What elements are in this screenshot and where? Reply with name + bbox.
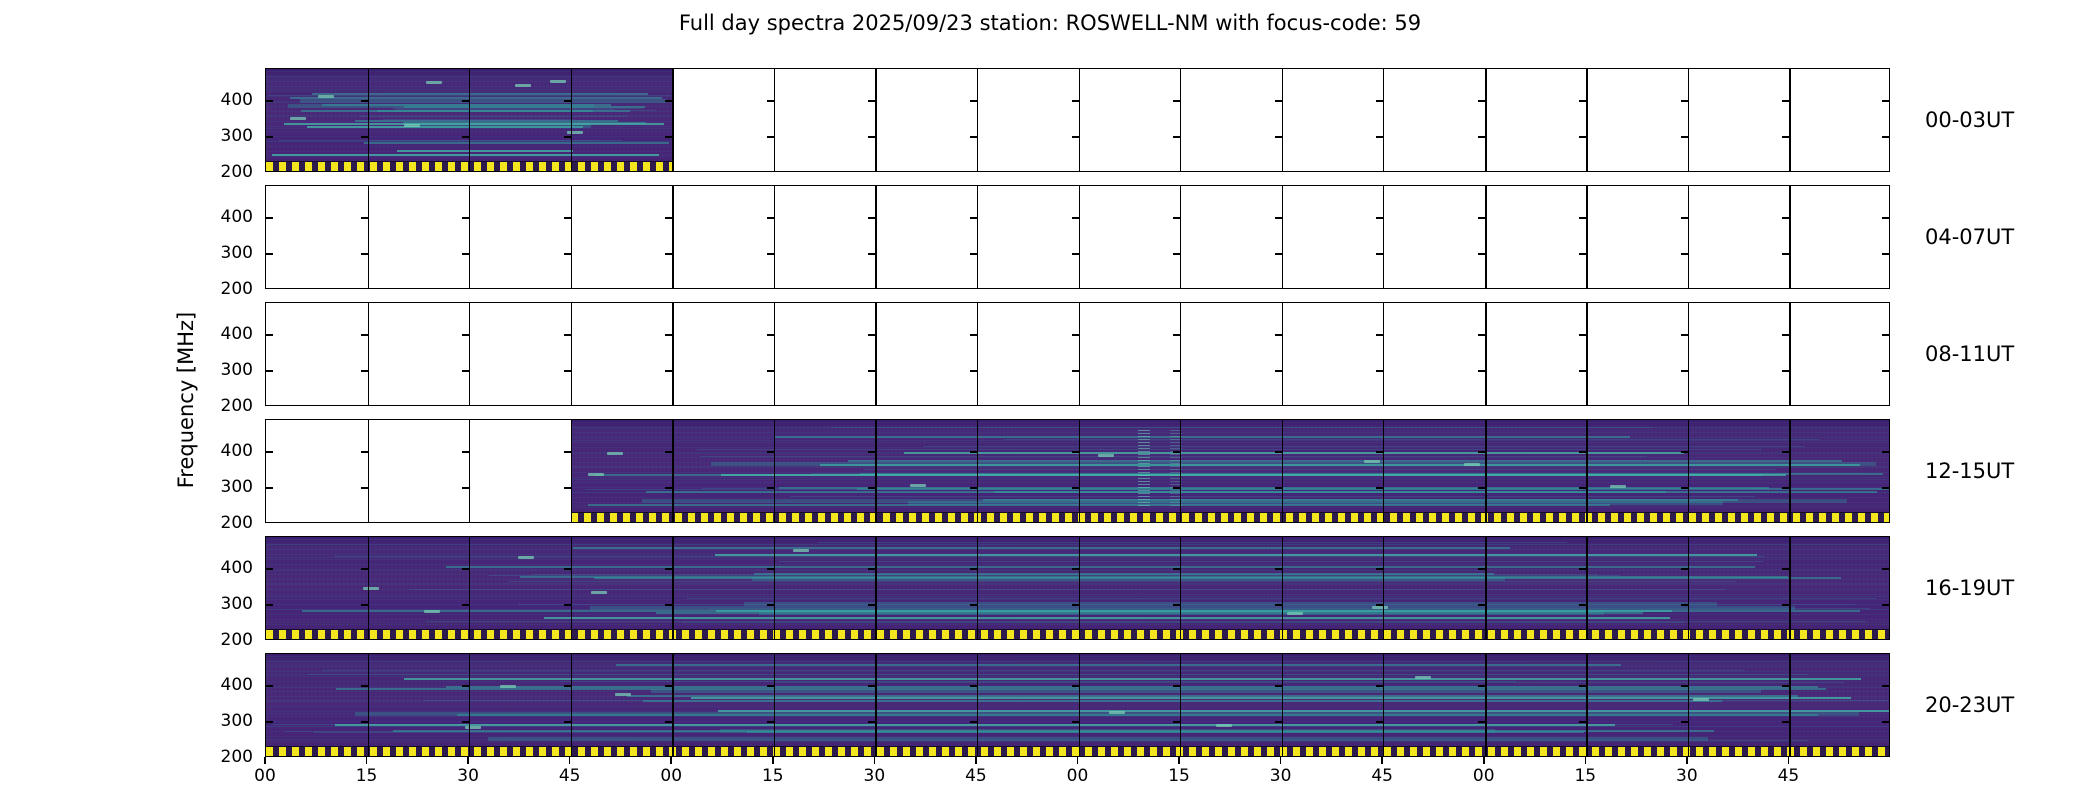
spectrogram-streak (290, 97, 661, 99)
grid-line-vertical (1282, 303, 1283, 405)
spectrogram-streak (355, 712, 1859, 716)
grid-tick-mark (1275, 487, 1282, 489)
grid-line-vertical (1180, 69, 1181, 171)
grid-tick-mark (1478, 334, 1485, 336)
x-tick-mark (975, 757, 977, 764)
spectrogram-streak (272, 154, 660, 156)
grid-tick-mark (665, 451, 672, 453)
y-tick-mark (266, 451, 273, 453)
grid-tick-mark (462, 217, 469, 219)
grid-line-vertical (1383, 303, 1384, 405)
spectrogram-blob (518, 556, 534, 559)
y-tick-label: 400 (207, 675, 253, 695)
grid-line-vertical (875, 537, 876, 639)
y-tick-mark (1882, 253, 1889, 255)
y-tick-mark (1882, 100, 1889, 102)
grid-tick-mark (1072, 217, 1079, 219)
y-tick-mark (266, 568, 273, 570)
x-tick-label: 45 (1778, 766, 1800, 786)
grid-line-vertical (1586, 69, 1587, 171)
spectrogram-streak (790, 496, 1755, 497)
grid-line-vertical (1789, 537, 1790, 639)
x-tick-label: 30 (1270, 766, 1292, 786)
spectrogram-row-16-19ut[interactable] (265, 536, 1890, 640)
y-tick-label: 200 (207, 279, 253, 299)
grid-line-vertical (1282, 654, 1283, 756)
x-tick-mark (772, 757, 774, 764)
grid-line-vertical (1485, 303, 1487, 405)
spectrogram-streak (397, 150, 573, 152)
grid-tick-mark (1376, 370, 1383, 372)
grid-tick-mark (767, 334, 774, 336)
grid-line-vertical (875, 654, 876, 756)
grid-tick-mark (564, 685, 571, 687)
grid-tick-mark (1782, 487, 1789, 489)
grid-tick-mark (1275, 568, 1282, 570)
grid-tick-mark (361, 370, 368, 372)
grid-line-vertical (774, 303, 775, 405)
spectrogram-streak (518, 604, 1855, 605)
grid-tick-mark (1579, 100, 1586, 102)
x-tick-label: 00 (660, 766, 682, 786)
grid-tick-mark (361, 253, 368, 255)
y-tick-label: 300 (207, 711, 253, 731)
grid-tick-mark (564, 136, 571, 138)
spectrogram-streak (396, 107, 630, 108)
grid-tick-mark (1782, 100, 1789, 102)
grid-tick-mark (767, 100, 774, 102)
grid-line-vertical (977, 537, 978, 639)
grid-tick-mark (1072, 685, 1079, 687)
grid-tick-mark (1579, 451, 1586, 453)
grid-line-vertical (1383, 420, 1384, 522)
y-tick-label: 400 (207, 558, 253, 578)
grid-tick-mark (1681, 217, 1688, 219)
grid-line-vertical (1586, 186, 1587, 288)
y-tick-label: 200 (207, 162, 253, 182)
grid-line-vertical (1485, 654, 1487, 756)
grid-line-vertical (368, 186, 369, 288)
grid-tick-mark (767, 451, 774, 453)
spectrogram-streak (335, 724, 1615, 726)
grid-tick-mark (1173, 334, 1180, 336)
grid-tick-mark (767, 685, 774, 687)
spectrogram-row-20-23ut[interactable] (265, 653, 1890, 757)
spectrogram-streak (370, 140, 622, 141)
spectrogram-streak (697, 449, 1762, 450)
y-tick-mark (1882, 685, 1889, 687)
grid-line-vertical (875, 69, 876, 171)
spectrogram-streak (560, 681, 1517, 682)
grid-tick-mark (1681, 685, 1688, 687)
grid-line-vertical (977, 420, 978, 522)
grid-tick-mark (970, 136, 977, 138)
spectrogram-blob (1216, 724, 1232, 727)
grid-tick-mark (665, 721, 672, 723)
grid-tick-mark (1173, 136, 1180, 138)
grid-tick-mark (868, 253, 875, 255)
grid-tick-mark (361, 100, 368, 102)
grid-line-vertical (571, 420, 572, 522)
spectrogram-blob (591, 591, 607, 594)
spectrogram-streak (711, 462, 1876, 466)
grid-tick-mark (462, 568, 469, 570)
spectrogram-row-00-03ut[interactable] (265, 68, 1890, 172)
spectrogram-streak (923, 446, 1804, 447)
y-tick-label: 400 (207, 207, 253, 227)
x-tick-label: 00 (1067, 766, 1089, 786)
y-axis-label: Frequency [MHz] (174, 312, 198, 488)
grid-tick-mark (868, 217, 875, 219)
spectrogram-streak (691, 697, 1850, 699)
grid-line-vertical (469, 420, 470, 522)
y-tick-mark (1882, 136, 1889, 138)
grid-line-vertical (977, 186, 978, 288)
y-tick-label: 200 (207, 747, 253, 767)
spectrogram-streak (509, 581, 1737, 582)
y-tick-mark (1882, 487, 1889, 489)
spectrogram-blob (1364, 460, 1380, 463)
spectrogram-blob (1372, 606, 1388, 609)
spectrogram-blob (1415, 676, 1431, 679)
y-tick-mark (266, 721, 273, 723)
grid-tick-mark (1173, 451, 1180, 453)
x-tick-label: 30 (1676, 766, 1698, 786)
grid-tick-mark (1681, 334, 1688, 336)
spectrogram-streak (322, 670, 1744, 671)
interference-burst (1138, 428, 1150, 508)
grid-tick-mark (665, 568, 672, 570)
grid-tick-mark (1376, 253, 1383, 255)
grid-tick-mark (1782, 334, 1789, 336)
y-tick-label: 400 (207, 324, 253, 344)
grid-tick-mark (462, 487, 469, 489)
grid-line-vertical (469, 303, 470, 405)
grid-tick-mark (1681, 487, 1688, 489)
spectrogram-streak (314, 732, 1562, 733)
grid-line-vertical (1688, 186, 1689, 288)
grid-tick-mark (767, 721, 774, 723)
spectrogram-blob (1287, 612, 1303, 615)
grid-tick-mark (970, 568, 977, 570)
spectrogram-streak (863, 469, 1776, 470)
spectrogram-streak (489, 575, 1620, 576)
spectrogram-blob (615, 693, 631, 696)
grid-tick-mark (1072, 604, 1079, 606)
grid-tick-mark (1376, 685, 1383, 687)
spectrogram-streak (308, 674, 1808, 675)
y-tick-mark (1882, 568, 1889, 570)
grid-tick-mark (970, 253, 977, 255)
spectrogram-row-08-11ut[interactable] (265, 302, 1890, 406)
grid-line-vertical (977, 303, 978, 405)
grid-tick-mark (1376, 604, 1383, 606)
grid-line-vertical (1383, 186, 1384, 288)
grid-tick-mark (1173, 253, 1180, 255)
grid-line-vertical (1180, 420, 1181, 522)
grid-tick-mark (767, 136, 774, 138)
x-tick-label: 45 (559, 766, 581, 786)
grid-tick-mark (1782, 685, 1789, 687)
grid-tick-mark (1072, 568, 1079, 570)
x-tick-label: 45 (965, 766, 987, 786)
spectrogram-streak (1003, 439, 1819, 440)
grid-tick-mark (564, 334, 571, 336)
spectrogram-blob (465, 726, 481, 729)
grid-tick-mark (1072, 334, 1079, 336)
spectrogram-streak (646, 491, 1876, 493)
grid-tick-mark (970, 334, 977, 336)
x-tick-label: 30 (457, 766, 479, 786)
grid-tick-mark (1478, 253, 1485, 255)
grid-line-vertical (368, 303, 369, 405)
row-label-12-15ut: 12-15UT (1925, 459, 2014, 483)
grid-tick-mark (564, 487, 571, 489)
y-tick-mark (1882, 334, 1889, 336)
grid-tick-mark (1579, 136, 1586, 138)
grid-tick-mark (665, 334, 672, 336)
grid-tick-mark (1579, 253, 1586, 255)
spectrogram-data-12-15ut (571, 420, 1890, 522)
grid-line-vertical (1079, 69, 1081, 171)
grid-line-vertical (1485, 186, 1487, 288)
grid-tick-mark (1376, 100, 1383, 102)
grid-tick-mark (1275, 604, 1282, 606)
grid-tick-mark (767, 370, 774, 372)
y-tick-label: 200 (207, 630, 253, 650)
grid-tick-mark (970, 451, 977, 453)
spectrogram-streak (651, 689, 1761, 693)
grid-tick-mark (868, 568, 875, 570)
grid-line-vertical (1789, 303, 1790, 405)
grid-tick-mark (462, 451, 469, 453)
x-tick-mark (366, 757, 368, 764)
grid-tick-mark (1173, 568, 1180, 570)
row-label-04-07ut: 04-07UT (1925, 225, 2014, 249)
grid-line-vertical (1789, 69, 1790, 171)
grid-line-vertical (774, 69, 775, 171)
x-tick-mark (1788, 757, 1790, 764)
grid-tick-mark (1782, 604, 1789, 606)
y-tick-label: 300 (207, 360, 253, 380)
y-tick-label: 300 (207, 126, 253, 146)
grid-tick-mark (361, 334, 368, 336)
grid-tick-mark (665, 253, 672, 255)
grid-tick-mark (1072, 253, 1079, 255)
x-tick-label: 00 (254, 766, 276, 786)
grid-tick-mark (665, 136, 672, 138)
grid-tick-mark (361, 721, 368, 723)
y-tick-mark (266, 334, 273, 336)
grid-tick-mark (1478, 100, 1485, 102)
y-tick-mark (266, 253, 273, 255)
spectrogram-blob (363, 587, 379, 590)
spectrogram-blob (290, 117, 306, 120)
grid-tick-mark (1173, 685, 1180, 687)
grid-line-vertical (1282, 186, 1283, 288)
spectrogram-streak (710, 608, 1870, 609)
grid-line-vertical (1079, 537, 1081, 639)
grid-tick-mark (1478, 370, 1485, 372)
grid-tick-mark (361, 604, 368, 606)
grid-tick-mark (1376, 334, 1383, 336)
grid-tick-mark (1478, 136, 1485, 138)
grid-tick-mark (868, 604, 875, 606)
grid-tick-mark (767, 253, 774, 255)
grid-tick-mark (665, 217, 672, 219)
grid-tick-mark (1275, 136, 1282, 138)
grid-line-vertical (672, 654, 674, 756)
grid-line-vertical (1180, 654, 1181, 756)
x-tick-mark (1178, 757, 1180, 764)
spectrogram-streak (364, 142, 669, 144)
spectrogram-streak (774, 740, 1808, 741)
grid-tick-mark (1376, 136, 1383, 138)
grid-tick-mark (868, 685, 875, 687)
spectrogram-streak (588, 504, 1609, 506)
y-tick-mark (1882, 370, 1889, 372)
grid-tick-mark (665, 685, 672, 687)
x-tick-label: 30 (864, 766, 886, 786)
grid-line-vertical (571, 654, 572, 756)
grid-tick-mark (665, 100, 672, 102)
grid-line-vertical (1079, 420, 1081, 522)
spectrogram-streak (831, 427, 1652, 428)
grid-tick-mark (1681, 721, 1688, 723)
y-tick-mark (266, 217, 273, 219)
y-tick-label: 200 (207, 513, 253, 533)
grid-tick-mark (1782, 370, 1789, 372)
grid-tick-mark (462, 253, 469, 255)
spectrogram-streak (426, 621, 1866, 622)
grid-line-vertical (1180, 537, 1181, 639)
x-tick-mark (1686, 757, 1688, 764)
grid-tick-mark (1275, 253, 1282, 255)
grid-tick-mark (1275, 721, 1282, 723)
grid-line-vertical (672, 186, 674, 288)
grid-tick-mark (1478, 451, 1485, 453)
grid-line-vertical (977, 69, 978, 171)
grid-line-vertical (1789, 186, 1790, 288)
row-label-16-19ut: 16-19UT (1925, 576, 2014, 600)
grid-tick-mark (1681, 136, 1688, 138)
spectrogram-blob (318, 95, 334, 98)
grid-tick-mark (1782, 136, 1789, 138)
grid-line-vertical (1485, 420, 1487, 522)
grid-tick-mark (1579, 685, 1586, 687)
x-tick-mark (1280, 757, 1282, 764)
x-tick-mark (467, 757, 469, 764)
grid-line-vertical (469, 654, 470, 756)
grid-tick-mark (1173, 604, 1180, 606)
grid-tick-mark (361, 136, 368, 138)
grid-line-vertical (1586, 303, 1587, 405)
grid-tick-mark (564, 604, 571, 606)
grid-tick-mark (1782, 253, 1789, 255)
grid-line-vertical (469, 69, 470, 171)
spectrogram-blob (424, 610, 440, 613)
spectrogram-streak (983, 499, 1739, 501)
spectrogram-blob (515, 84, 531, 87)
spectrogram-blob (607, 452, 623, 455)
grid-line-vertical (774, 654, 775, 756)
grid-tick-mark (868, 721, 875, 723)
spectrogram-streak (779, 561, 1763, 562)
grid-line-vertical (875, 186, 876, 288)
spectrogram-streak (409, 589, 1726, 590)
spectrogram-row-04-07ut[interactable] (265, 185, 1890, 289)
spectrogram-blob (793, 549, 809, 552)
grid-tick-mark (361, 451, 368, 453)
grid-tick-mark (361, 685, 368, 687)
grid-tick-mark (970, 217, 977, 219)
grid-tick-mark (564, 217, 571, 219)
grid-tick-mark (1376, 451, 1383, 453)
y-tick-mark (266, 136, 273, 138)
grid-tick-mark (1072, 487, 1079, 489)
grid-tick-mark (1376, 217, 1383, 219)
x-tick-label: 00 (1473, 766, 1495, 786)
y-tick-label: 200 (207, 396, 253, 416)
spectrogram-streak (721, 474, 1786, 476)
grid-line-vertical (774, 537, 775, 639)
spectrogram-row-12-15ut[interactable] (265, 419, 1890, 523)
grid-tick-mark (767, 487, 774, 489)
grid-line-vertical (368, 654, 369, 756)
grid-tick-mark (1681, 568, 1688, 570)
grid-tick-mark (1681, 253, 1688, 255)
grid-tick-mark (1478, 685, 1485, 687)
grid-line-vertical (1688, 537, 1689, 639)
grid-tick-mark (564, 370, 571, 372)
grid-line-vertical (672, 537, 674, 639)
spectrogram-streak (573, 547, 1510, 549)
spectrogram-blob (567, 131, 583, 134)
spectrogram-streak (300, 99, 667, 103)
grid-tick-mark (462, 370, 469, 372)
grid-tick-mark (1275, 334, 1282, 336)
grid-tick-mark (564, 253, 571, 255)
grid-tick-mark (462, 334, 469, 336)
y-tick-mark (266, 487, 273, 489)
grid-tick-mark (1782, 217, 1789, 219)
grid-tick-mark (1173, 487, 1180, 489)
grid-line-vertical (1688, 654, 1689, 756)
spectrogram-blob (1098, 454, 1114, 457)
grid-tick-mark (462, 604, 469, 606)
grid-tick-mark (1681, 604, 1688, 606)
grid-tick-mark (1782, 721, 1789, 723)
x-tick-mark (569, 757, 571, 764)
grid-tick-mark (1072, 370, 1079, 372)
grid-tick-mark (868, 370, 875, 372)
spectrogram-streak (404, 678, 1860, 680)
spectrogram-blob (426, 81, 442, 84)
row-label-00-03ut: 00-03UT (1925, 108, 2014, 132)
grid-tick-mark (1275, 451, 1282, 453)
grid-tick-mark (1579, 370, 1586, 372)
grid-tick-mark (767, 604, 774, 606)
y-tick-mark (266, 100, 273, 102)
grid-tick-mark (1275, 217, 1282, 219)
y-tick-mark (266, 685, 273, 687)
grid-line-vertical (1383, 654, 1384, 756)
grid-line-vertical (1485, 69, 1487, 171)
spectrogram-streak (702, 488, 1753, 489)
grid-tick-mark (1478, 568, 1485, 570)
grid-line-vertical (1688, 420, 1689, 522)
grid-line-vertical (1079, 303, 1081, 405)
